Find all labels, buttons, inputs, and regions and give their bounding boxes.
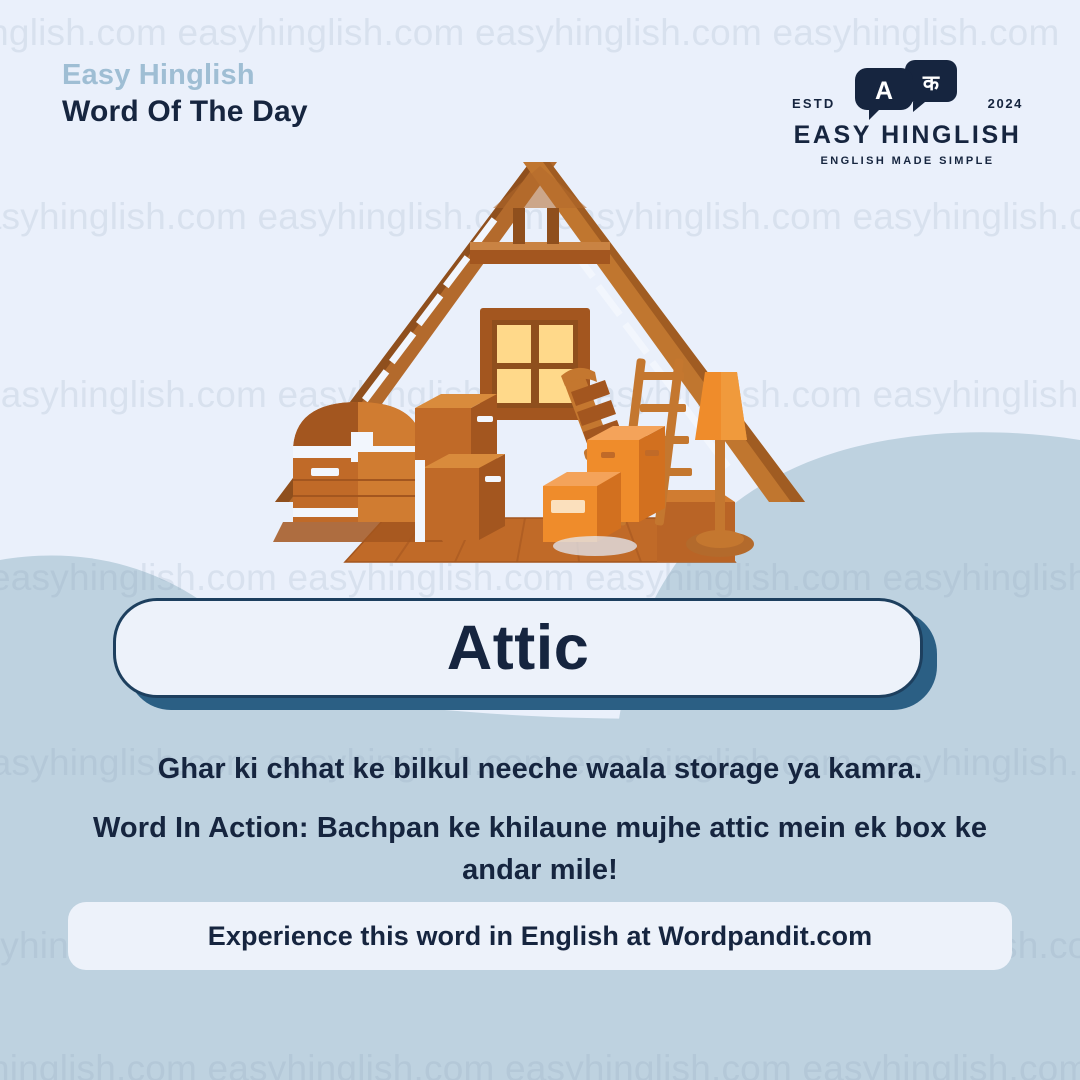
- logo-wordmark: EASY HINGLISH: [790, 122, 1025, 150]
- word-card: Attic: [113, 598, 923, 698]
- word-definition: Ghar ki chhat ke bilkul neeche waala sto…: [40, 748, 1040, 790]
- cardboard-boxes: [415, 394, 505, 542]
- speech-bubbles-icon: क A: [853, 58, 963, 120]
- word-in-action: Word In Action: Bachpan ke khilaune mujh…: [40, 807, 1040, 891]
- poster-canvas: easyhinglish.com easyhinglish.com easyhi…: [0, 0, 1080, 1080]
- svg-text:क: क: [921, 72, 939, 95]
- cta-label: Experience this word in English at Wordp…: [208, 921, 873, 952]
- logo: ESTD 2024 क A EASY HINGLISH ENGLISH MADE…: [790, 58, 1025, 167]
- word-card-body: Attic: [113, 598, 923, 698]
- logo-year-label: 2024: [988, 96, 1023, 111]
- page-title: Word Of The Day: [62, 94, 308, 130]
- attic-interior-illustration: [265, 150, 815, 590]
- svg-text:A: A: [874, 77, 892, 105]
- logo-mark: ESTD 2024 क A: [790, 58, 1025, 120]
- word-of-the-day: Attic: [447, 617, 590, 680]
- cta-banner[interactable]: Experience this word in English at Wordp…: [68, 902, 1012, 970]
- logo-estd-label: ESTD: [792, 96, 835, 111]
- logo-tagline: ENGLISH MADE SIMPLE: [790, 155, 1025, 167]
- brand-name: Easy Hinglish: [62, 58, 308, 92]
- meaning-block: Ghar ki chhat ke bilkul neeche waala sto…: [40, 748, 1040, 891]
- header-block: Easy Hinglish Word Of The Day: [62, 58, 308, 130]
